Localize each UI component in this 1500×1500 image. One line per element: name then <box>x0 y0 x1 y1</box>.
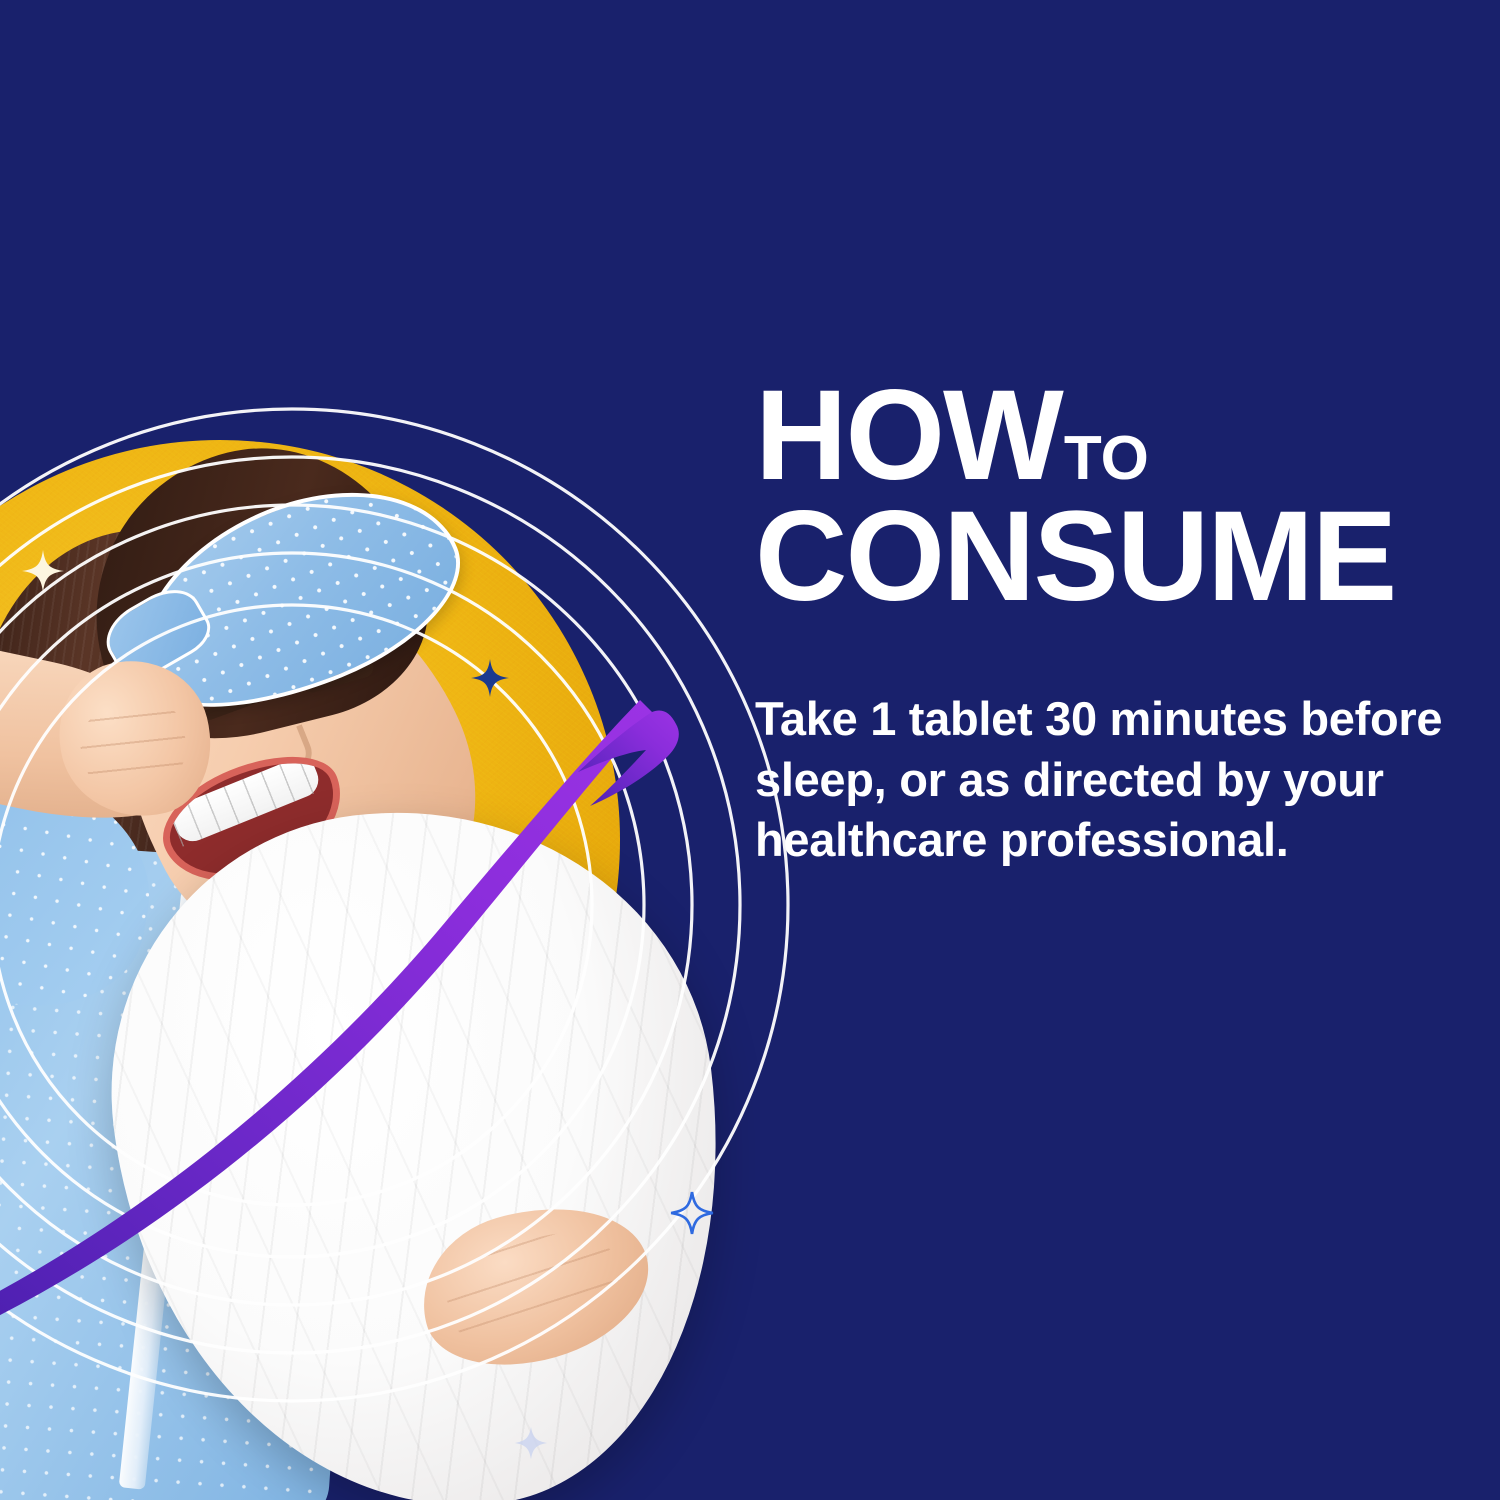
headline-word-to: TO <box>1064 424 1149 493</box>
text-column: HOWTO CONSUME Take 1 tablet 30 minutes b… <box>755 355 1455 918</box>
headline-line-2: CONSUME <box>755 497 1455 617</box>
poster-root: HOWTO CONSUME Take 1 tablet 30 minutes b… <box>0 0 1500 1500</box>
headline-line-1: HOWTO <box>755 376 1455 496</box>
model-photo <box>0 330 760 1500</box>
instruction-text: Take 1 tablet 30 minutes before sleep, o… <box>755 689 1455 871</box>
page-title: HOWTO CONSUME <box>755 376 1455 617</box>
